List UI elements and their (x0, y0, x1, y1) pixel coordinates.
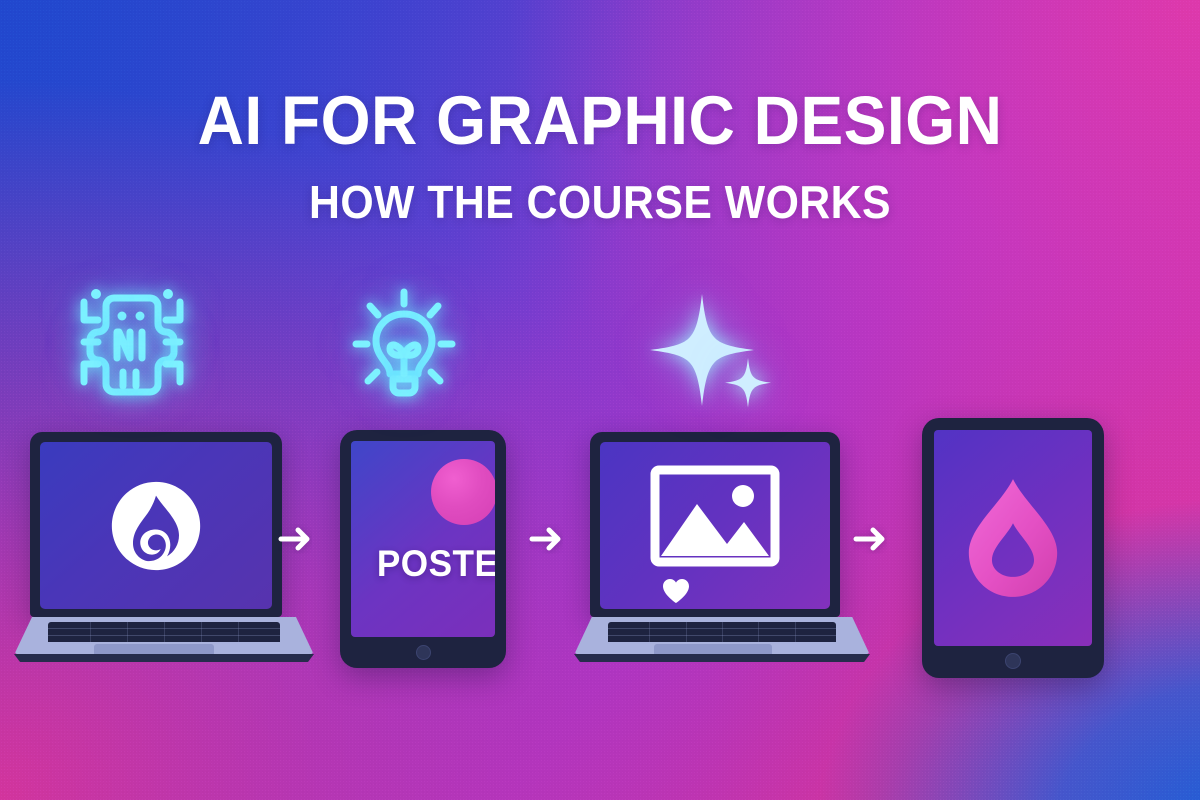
laptop-lid (590, 432, 840, 617)
laptop-lid (30, 432, 282, 617)
tablet-screen: POSTER (351, 441, 495, 637)
laptop-screen (600, 442, 830, 609)
tablet-body: POSTER (340, 430, 506, 668)
keyboard-col (164, 622, 165, 642)
page-subtitle: HOW THE COURSE WORKS (42, 179, 1158, 225)
keyboard-col (201, 622, 202, 642)
screen-content (600, 442, 830, 609)
arrow-2 (529, 524, 563, 554)
tablet-body (922, 418, 1104, 678)
page-title: AI FOR GRAPHIC DESIGN (42, 86, 1158, 155)
step-tablet-result[interactable] (922, 418, 1104, 680)
lightbulb-icon (352, 288, 456, 404)
laptop-keyboard (48, 622, 280, 642)
heart-icon (662, 578, 690, 604)
step-tablet-poster[interactable]: POSTER (340, 430, 506, 670)
keyboard-col (238, 622, 239, 642)
tablet-home-button[interactable] (1005, 653, 1021, 669)
poster-canvas: AI FOR GRAPHIC DESIGN HOW THE COURSE WOR… (0, 0, 1200, 800)
keyboard-col (795, 622, 796, 642)
flame-droplet-logo-icon (110, 480, 202, 572)
image-placeholder-icon (649, 464, 781, 568)
screen-content (934, 430, 1092, 646)
ai-chip-icon (78, 280, 186, 410)
heading-block: AI FOR GRAPHIC DESIGN HOW THE COURSE WOR… (0, 86, 1200, 225)
laptop-screen (40, 442, 272, 609)
step-laptop-brand[interactable] (14, 432, 314, 672)
pink-circle-shape (431, 459, 495, 525)
tablet-screen (934, 430, 1092, 646)
keyboard-col (90, 622, 91, 642)
keyboard-col (649, 622, 650, 642)
screen-content (40, 442, 272, 609)
keyboard-col (686, 622, 687, 642)
sparkle-icon (660, 292, 770, 402)
laptop-keyboard (608, 622, 836, 642)
tablet-home-button[interactable] (416, 645, 431, 660)
step-laptop-image[interactable] (574, 432, 870, 672)
arrow-3 (853, 524, 887, 554)
poster-label: POSTER (377, 543, 495, 585)
laptop-base-edge (14, 654, 314, 662)
keyboard-col (127, 622, 128, 642)
laptop-base-edge (574, 654, 870, 662)
arrow-1 (278, 524, 312, 554)
flame-droplet-logo-pink-icon (960, 477, 1066, 599)
keyboard-col (758, 622, 759, 642)
keyboard-col (722, 622, 723, 642)
